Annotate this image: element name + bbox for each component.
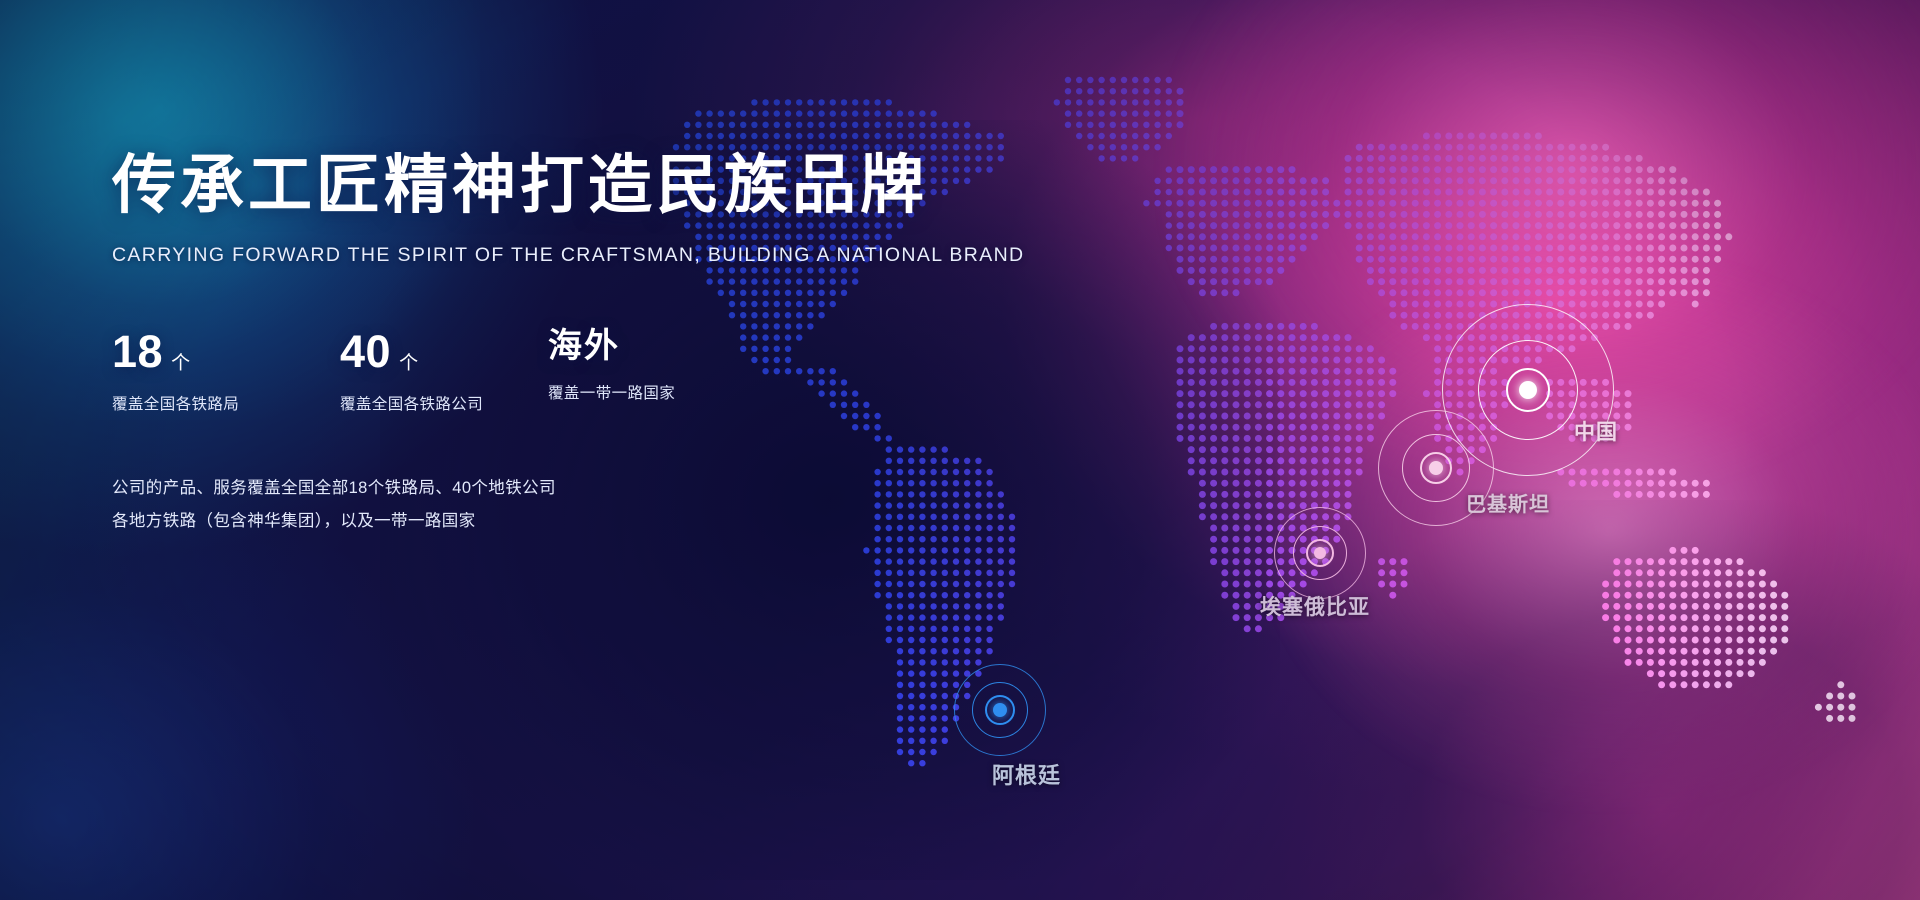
map-marker-label-ethiopia: 埃塞俄比亚 — [1260, 591, 1370, 621]
stat-value-row: 40 个 — [340, 329, 548, 374]
stat-number: 海外 — [548, 329, 620, 363]
stat-number: 18 — [112, 329, 163, 374]
map-marker-label-argentina: 阿根廷 — [992, 758, 1061, 790]
hero-banner: 中国巴基斯坦埃塞俄比亚阿根廷 传承工匠精神打造民族品牌 CARRYING FOR… — [0, 0, 1920, 900]
description-paragraph: 公司的产品、服务覆盖全国全部18个铁路局、40个地铁公司 各地方铁路（包含神华集… — [112, 472, 1012, 538]
stat-value-row: 海外 — [548, 329, 675, 363]
map-marker-label-pakistan: 巴基斯坦 — [1466, 488, 1550, 517]
map-marker-label-china: 中国 — [1574, 416, 1618, 446]
stat-item-railway-bureaus: 18 个 覆盖全国各铁路局 — [112, 329, 340, 414]
stat-unit: 个 — [171, 348, 190, 375]
stat-item-overseas: 海外 覆盖一带一路国家 — [548, 329, 675, 414]
marker-core-dot — [993, 703, 1007, 717]
description-line-2: 各地方铁路（包含神华集团），以及一带一路国家 — [112, 505, 1012, 538]
hero-content: 传承工匠精神打造民族品牌 CARRYING FORWARD THE SPIRIT… — [112, 150, 1012, 538]
stat-unit: 个 — [399, 348, 418, 375]
description-line-1: 公司的产品、服务覆盖全国全部18个铁路局、40个地铁公司 — [112, 472, 1012, 505]
marker-core-dot — [1519, 381, 1537, 399]
stat-caption: 覆盖全国各铁路公司 — [340, 392, 548, 414]
page-title: 传承工匠精神打造民族品牌 — [112, 150, 1012, 222]
stat-value-row: 18 个 — [112, 329, 340, 374]
stat-caption: 覆盖全国各铁路局 — [112, 392, 340, 414]
stat-caption: 覆盖一带一路国家 — [548, 381, 675, 403]
marker-core-dot — [1429, 461, 1443, 475]
page-subtitle: CARRYING FORWARD THE SPIRIT OF THE CRAFT… — [112, 244, 1012, 267]
stat-item-railway-companies: 40 个 覆盖全国各铁路公司 — [340, 329, 548, 414]
marker-core-dot — [1314, 547, 1326, 559]
stat-number: 40 — [340, 329, 391, 374]
statistics-row: 18 个 覆盖全国各铁路局 40 个 覆盖全国各铁路公司 海外 覆盖一带一路国家 — [112, 329, 1012, 414]
